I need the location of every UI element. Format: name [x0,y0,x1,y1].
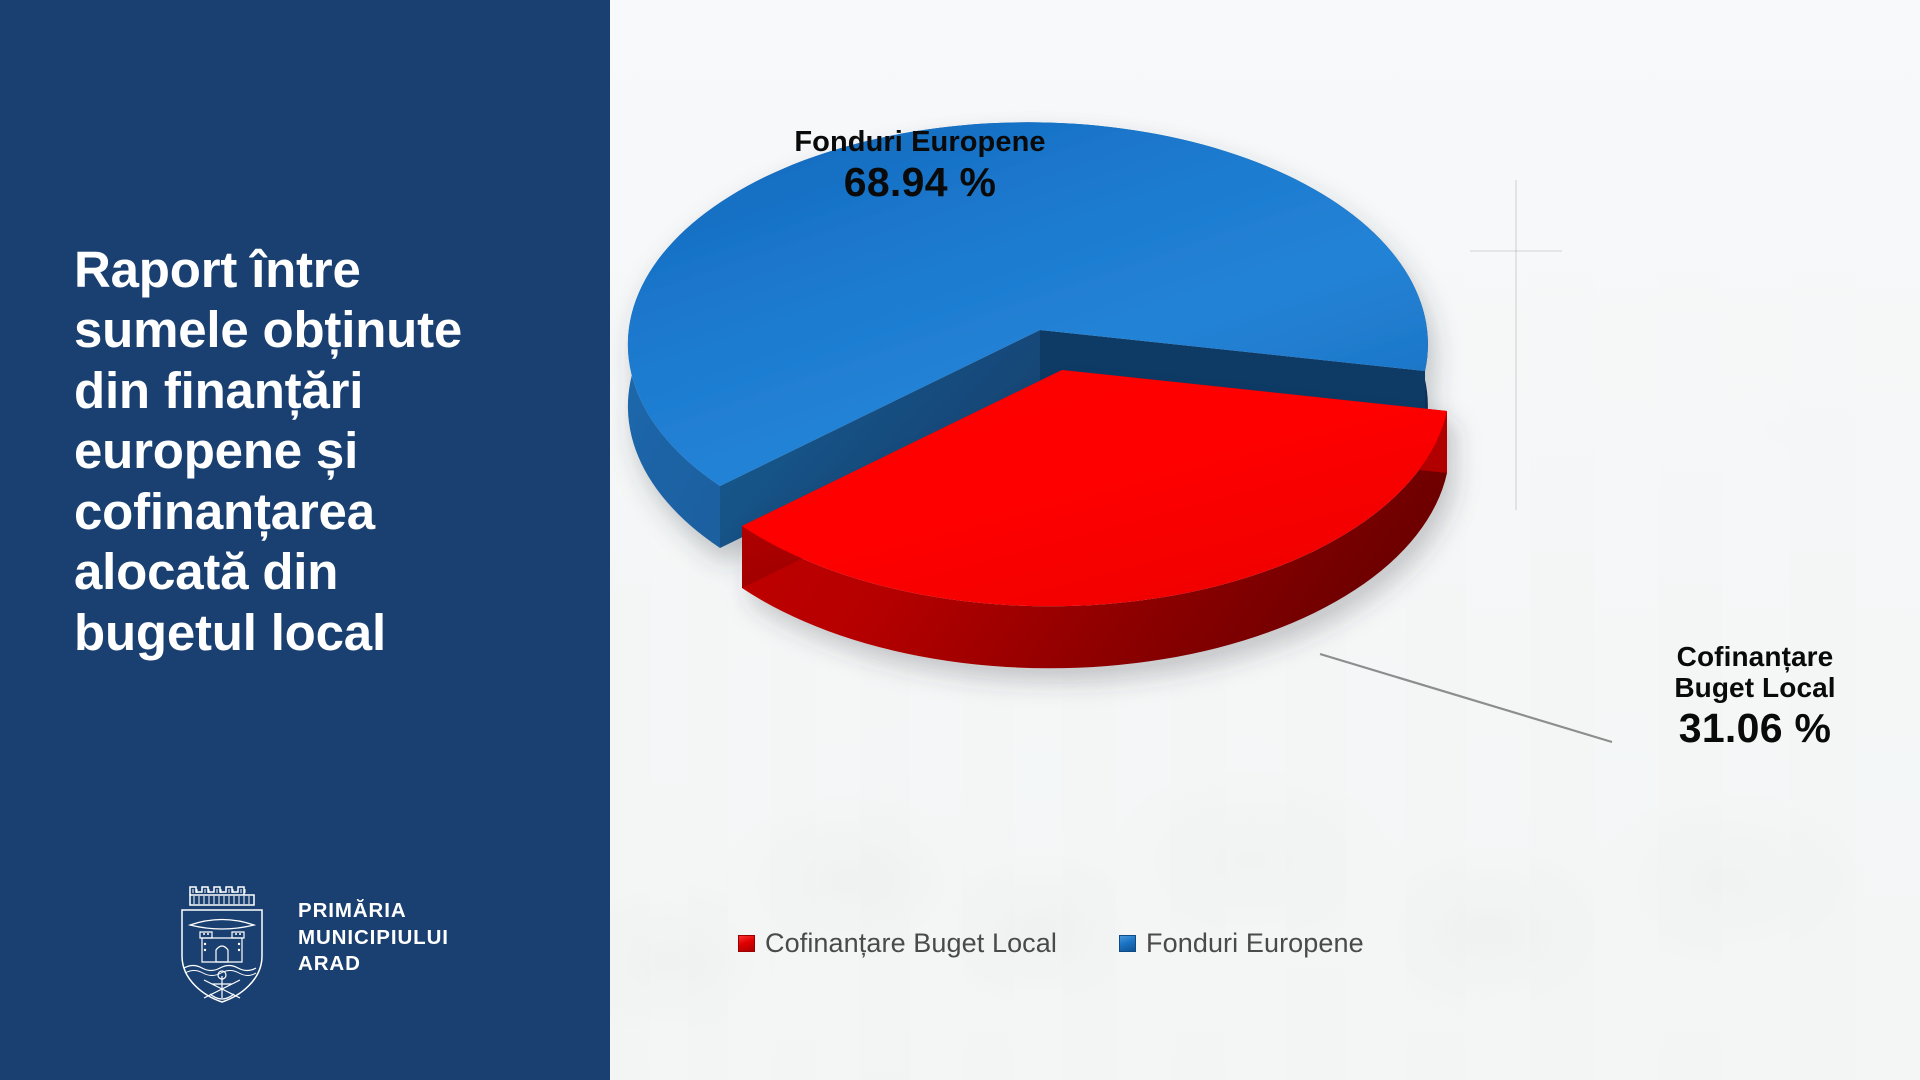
legend-item-cofinantare[interactable]: Cofinanțare Buget Local [738,928,1057,959]
chart-legend: Cofinanțare Buget Local Fonduri Europene [738,928,1438,959]
leader-line-cofinantare [1320,654,1612,742]
org-name-line1: PRIMĂRIA [298,898,449,925]
legend-label-cofinantare: Cofinanțare Buget Local [765,928,1057,959]
organization-logo: PRIMĂRIA MUNICIPIULUI ARAD [168,872,449,1004]
callout-cofinantare-name-line2: Buget Local [1610,672,1900,703]
sidebar: Raport între sumele obținute din finanță… [0,0,610,1080]
slide-canvas: Fonduri Europene 68.94 % Cofinanțare Bug… [0,0,1920,1080]
callout-fonduri-europene: Fonduri Europene 68.94 % [610,126,1230,206]
organization-name: PRIMĂRIA MUNICIPIULUI ARAD [298,898,449,978]
callout-fonduri-europene-value: 68.94 % [610,160,1230,206]
callout-cofinantare-name-line1: Cofinanțare [1610,641,1900,672]
callout-cofinantare-buget-local: Cofinanțare Buget Local 31.06 % [1610,641,1900,752]
legend-item-fonduri-europene[interactable]: Fonduri Europene [1119,928,1364,959]
page-title: Raport între sumele obținute din finanță… [74,240,504,663]
legend-label-fonduri-europene: Fonduri Europene [1146,928,1364,959]
callout-fonduri-europene-name: Fonduri Europene [610,126,1230,158]
legend-swatch-blue-icon [1119,935,1136,952]
org-name-line2: MUNICIPIULUI [298,925,449,952]
legend-swatch-red-icon [738,935,755,952]
org-name-line3: ARAD [298,951,449,978]
chart-panel: Fonduri Europene 68.94 % Cofinanțare Bug… [610,0,1920,1080]
callout-cofinantare-value: 31.06 % [1610,706,1900,752]
arad-coat-of-arms-icon [168,872,276,1004]
